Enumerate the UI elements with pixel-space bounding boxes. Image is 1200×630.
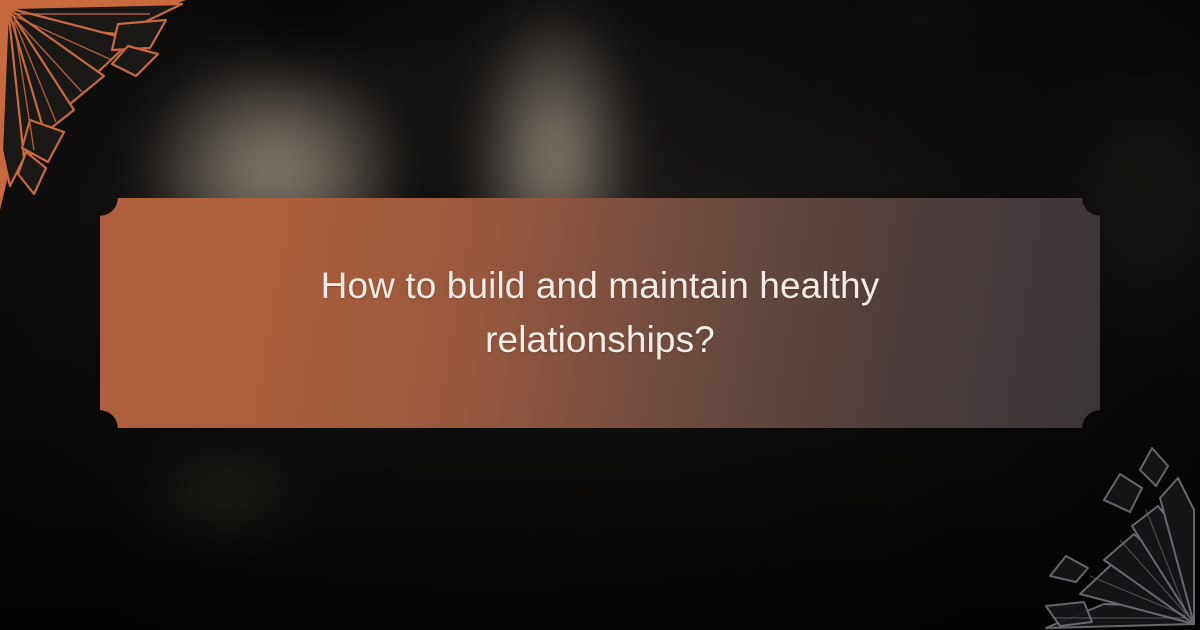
question-card: How to build and maintain healthy relati… — [100, 198, 1100, 428]
page-title: How to build and maintain healthy relati… — [280, 259, 920, 368]
quote-card-canvas: How to build and maintain healthy relati… — [0, 0, 1200, 630]
